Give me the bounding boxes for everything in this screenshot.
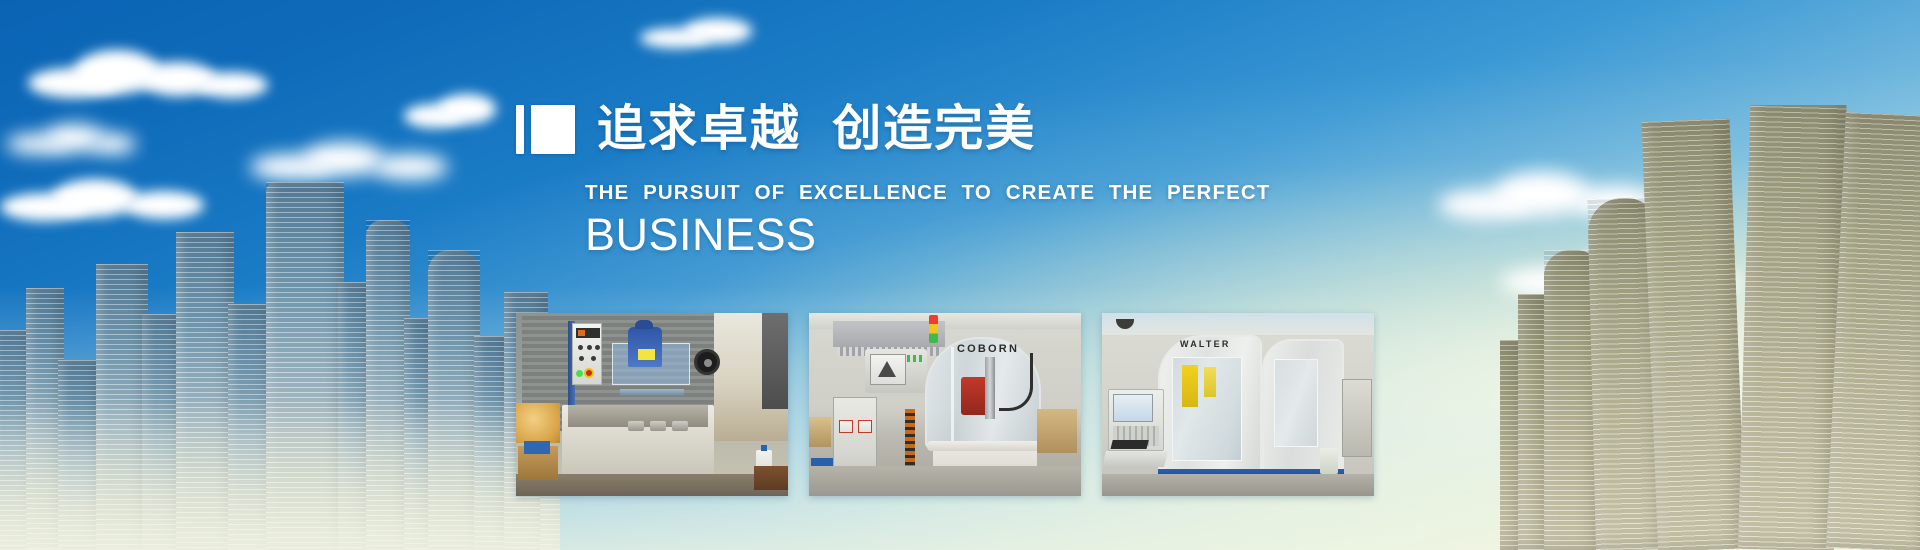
photo1-warm-lamp xyxy=(516,403,560,443)
photo2-cable-chain xyxy=(905,409,915,471)
photo1-yellow-label xyxy=(638,349,655,360)
photo2-cabinet-gauge-b xyxy=(858,420,872,433)
photo-coborn-machine[interactable]: COBORN xyxy=(809,313,1081,496)
photo3-console-screen xyxy=(1113,394,1153,422)
photo3-keyboard xyxy=(1102,451,1168,467)
photo3-ceiling xyxy=(1102,313,1374,335)
photo1-machine-table xyxy=(620,389,684,396)
photo3-coolant-jug xyxy=(1320,448,1338,474)
photo1-curtain xyxy=(762,313,788,409)
banner-content: 追求卓越 创造完美 THE PURSUIT OF EXCELLENCE TO C… xyxy=(0,0,1920,550)
business-word: BUSINESS xyxy=(585,207,817,263)
photo1-power-led xyxy=(576,370,583,377)
photo2-floor xyxy=(809,466,1081,496)
logo-block-icon xyxy=(531,105,575,154)
photo1-knob-c xyxy=(595,345,600,350)
photo1-pan-c xyxy=(672,421,688,431)
photo2-left-carton xyxy=(809,417,831,447)
photo1-panel-display xyxy=(576,328,600,338)
photo1-grinding-head xyxy=(628,327,662,367)
photo3-electrical-cabinet xyxy=(1342,379,1372,457)
photo1-pan-b xyxy=(650,421,666,431)
photo3-floor xyxy=(1102,474,1374,496)
photo3-yellow-guard-b xyxy=(1204,367,1216,397)
photo3-brand-caption: WALTER xyxy=(1180,339,1231,349)
photo1-wooden-desk xyxy=(754,466,788,490)
photo1-handwheel xyxy=(694,349,720,375)
photo1-emergency-stop xyxy=(584,368,594,378)
machine-photo-strip: COBORN xyxy=(516,313,1374,496)
photo1-pan-a xyxy=(628,421,644,431)
photo1-blue-bin xyxy=(524,441,550,454)
photo2-brand-caption: COBORN xyxy=(957,343,1019,355)
headline-chinese: 追求卓越 创造完美 xyxy=(597,105,1036,154)
photo3-main-enclosure xyxy=(1158,335,1262,475)
photo2-signal-tower-light xyxy=(929,315,938,343)
logo-bar-icon xyxy=(516,105,524,154)
logo-mark-icon xyxy=(516,105,575,154)
photo1-knob-e xyxy=(591,356,596,361)
photo2-indicator-lights xyxy=(907,355,923,362)
photo1-knob-a xyxy=(578,345,583,350)
photo2-screen-graphic xyxy=(878,361,896,377)
photo3-right-window xyxy=(1274,359,1318,447)
photo3-yellow-guard-a xyxy=(1182,365,1198,407)
photo-walter-cnc-grinder[interactable]: WALTER xyxy=(1102,313,1374,496)
photo1-control-panel xyxy=(572,323,602,385)
photo1-knob-d xyxy=(579,356,584,361)
headline-row: 追求卓越 创造完美 xyxy=(516,105,1036,154)
photo-surface-grinding-machine[interactable] xyxy=(516,313,788,496)
hero-banner: 追求卓越 创造完美 THE PURSUIT OF EXCELLENCE TO C… xyxy=(0,0,1920,550)
subheadline-english: THE PURSUIT OF EXCELLENCE TO CREATE THE … xyxy=(585,181,1270,205)
photo2-right-carton xyxy=(1037,409,1077,453)
photo2-cabinet-gauge-a xyxy=(839,420,853,433)
photo2-crt-monitor xyxy=(865,349,927,393)
photo2-spindle xyxy=(985,357,995,419)
photo1-knob-b xyxy=(587,345,592,350)
